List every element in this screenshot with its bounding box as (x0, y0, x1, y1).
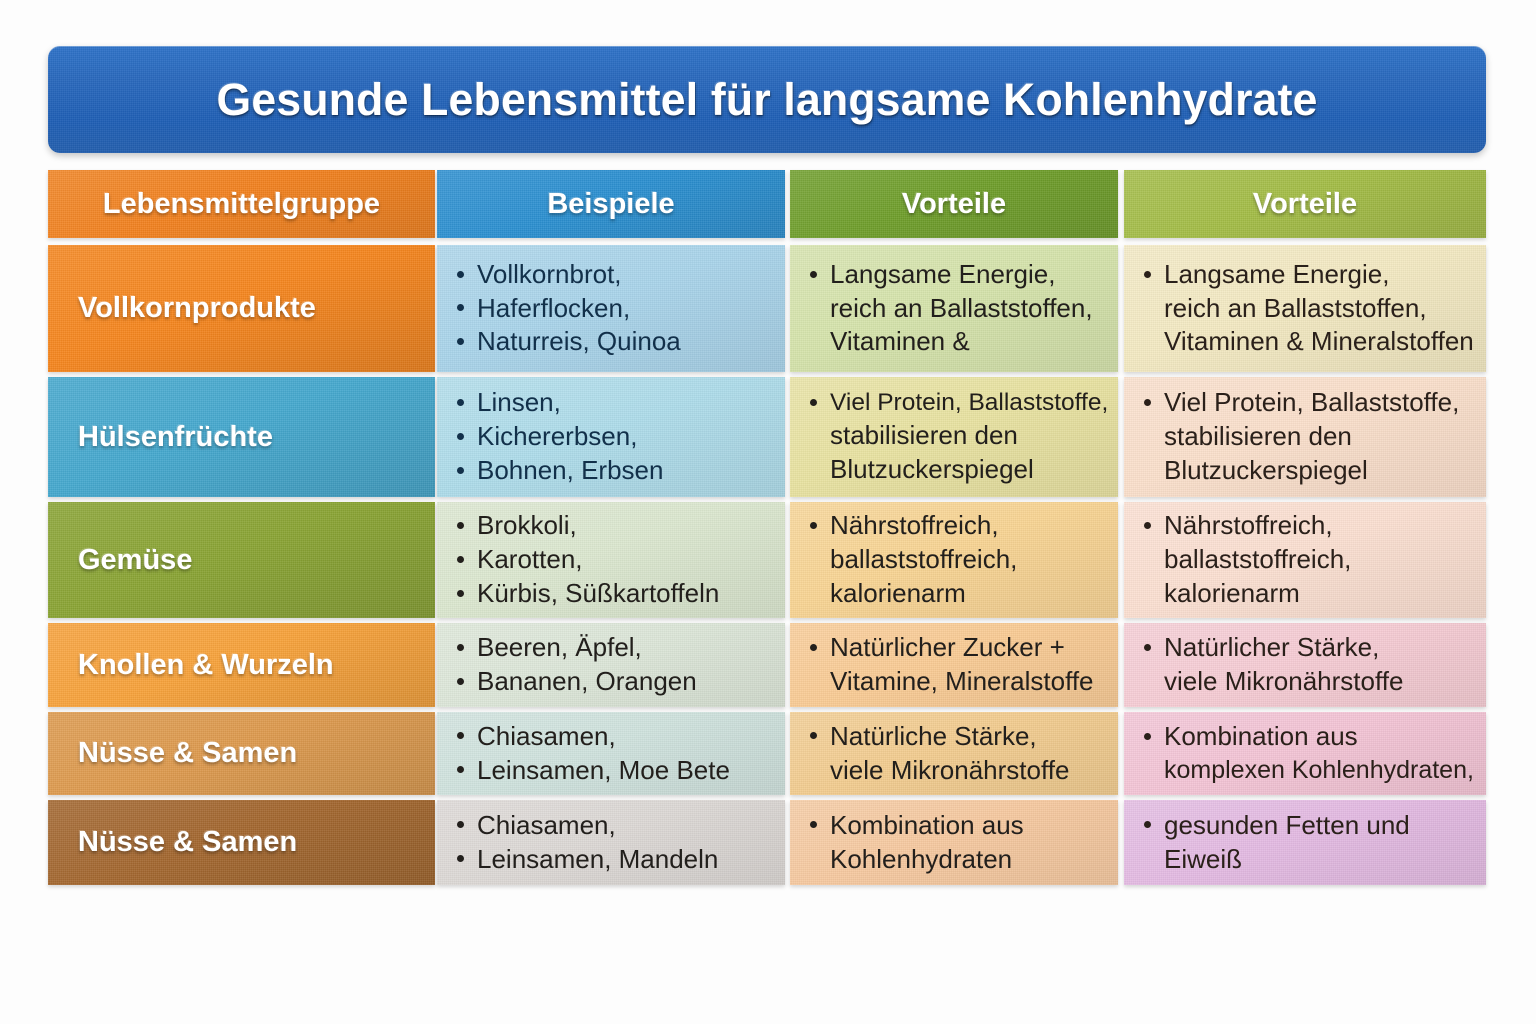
bullet-list: gesunden Fetten undEiweiß (1142, 809, 1476, 877)
list-item: komplexen Kohlenhydraten, (1142, 754, 1476, 787)
list-item: Chiasamen, (455, 720, 775, 754)
list-item: stabilisieren den (808, 419, 1108, 453)
bullet-point-icon (457, 338, 464, 345)
list-item: Vitamine, Mineralstoffe (808, 665, 1108, 699)
bullet-point-icon (457, 433, 464, 440)
list-item: Nährstoffreich, (1142, 509, 1476, 543)
list-item: Kombination aus (1142, 720, 1476, 754)
examples-cell: Chiasamen,Leinsamen, Mandeln (437, 800, 785, 885)
list-item: Kichererbsen, (455, 420, 775, 454)
bullet-point-icon (1144, 271, 1151, 278)
benefits-cell-b: Kombination auskomplexen Kohlenhydraten, (1124, 712, 1486, 795)
list-item-label: Natürliche Stärke, (830, 721, 1037, 751)
list-item: Viel Protein, Ballaststoffe, (808, 387, 1108, 419)
list-item: Chiasamen, (455, 809, 775, 843)
list-item-label: Blutzuckerspiegel (1164, 455, 1368, 485)
list-item: Blutzuckerspiegel (808, 453, 1108, 487)
table-row: Nüsse & Samen (48, 712, 435, 795)
list-item-label: Naturreis, Quinoa (477, 326, 681, 356)
food-group-label: Vollkornprodukte (78, 292, 316, 325)
bullet-point-icon (457, 271, 464, 278)
benefits-cell-b: gesunden Fetten undEiweiß (1124, 800, 1486, 885)
table-header-cell-1: Lebensmittelgruppe (48, 170, 435, 238)
list-item: reich an Ballaststoffen, (1142, 292, 1476, 326)
list-item-label: Kombination aus (1164, 721, 1358, 751)
list-item: Natürliche Stärke, (808, 720, 1108, 754)
examples-cell: Chiasamen,Leinsamen, Moe Bete (437, 712, 785, 795)
table-header-label: Lebensmittelgruppe (103, 188, 380, 221)
list-item-label: stabilisieren den (830, 420, 1018, 450)
list-item-label: gesunden Fetten und (1164, 810, 1410, 840)
bullet-point-icon (457, 590, 464, 597)
list-item: ballaststoffreich, (1142, 543, 1476, 577)
list-item-label: Viel Protein, Ballaststoffe, (830, 389, 1108, 416)
list-item-label: Langsame Energie, (830, 259, 1055, 289)
bullet-point-icon (457, 678, 464, 685)
list-item-label: Leinsamen, Mandeln (477, 844, 718, 874)
list-item-label: Vitamine, Mineralstoffe (830, 666, 1094, 696)
food-group-label: Knollen & Wurzeln (78, 649, 334, 682)
list-item-label: Linsen, (477, 387, 561, 417)
benefits-cell-b: Natürlicher Stärke,viele Mikronährstoffe (1124, 623, 1486, 707)
list-item: Beeren, Äpfel, (455, 631, 775, 665)
bullet-point-icon (810, 732, 817, 739)
bullet-list: Linsen,Kichererbsen,Bohnen, Erbsen (455, 386, 775, 487)
list-item: Kürbis, Süßkartoffeln (455, 577, 775, 611)
list-item-label: Kichererbsen, (477, 421, 637, 451)
bullet-list: Beeren, Äpfel,Bananen, Orangen (455, 631, 775, 699)
list-item: Haferflocken, (455, 292, 775, 326)
bullet-point-icon (1144, 821, 1151, 828)
list-item: Leinsamen, Mandeln (455, 843, 775, 877)
list-item-label: reich an Ballaststoffen, (1164, 293, 1427, 323)
food-group-label: Nüsse & Samen (78, 737, 297, 770)
list-item: Kombination aus (808, 809, 1108, 843)
list-item-label: Beeren, Äpfel, (477, 632, 642, 662)
benefits-cell-a: Nährstoffreich,ballaststoffreich,kalorie… (790, 502, 1118, 618)
list-item: Vitaminen & (808, 325, 1108, 359)
bullet-point-icon (810, 644, 817, 651)
benefits-cell-a: Kombination ausKohlenhydraten (790, 800, 1118, 885)
table-row: Knollen & Wurzeln (48, 623, 435, 707)
bullet-point-icon (810, 821, 817, 828)
list-item: Brokkoli, (455, 509, 775, 543)
list-item: Naturreis, Quinoa (455, 325, 775, 359)
bullet-list: Nährstoffreich,ballaststoffreich,kalorie… (1142, 509, 1476, 610)
list-item: Leinsamen, Moe Bete (455, 754, 775, 788)
list-item: Eiweiß (1142, 843, 1476, 877)
bullet-list: Nährstoffreich,ballaststoffreich,kalorie… (808, 509, 1108, 610)
bullet-point-icon (457, 766, 464, 773)
bullet-list: Natürliche Stärke,viele Mikronährstoffe (808, 720, 1108, 788)
list-item: Langsame Energie, (808, 258, 1108, 292)
list-item-label: Chiasamen, (477, 810, 616, 840)
examples-cell: Vollkornbrot,Haferflocken,Naturreis, Qui… (437, 245, 785, 372)
list-item-label: komplexen Kohlenhydraten, (1164, 756, 1474, 784)
list-item: Viel Protein, Ballaststoffe, (1142, 386, 1476, 420)
list-item: Blutzuckerspiegel (1142, 454, 1476, 488)
list-item: viele Mikronährstoffe (1142, 665, 1476, 699)
bullet-point-icon (1144, 399, 1151, 406)
list-item-label: Kohlenhydraten (830, 844, 1012, 874)
list-item: Vitaminen & Mineralstoffen (1142, 325, 1476, 359)
list-item-label: kalorienarm (1164, 578, 1300, 608)
list-item-label: Eiweiß (1164, 844, 1242, 874)
list-item-label: Viel Protein, Ballaststoffe, (1164, 387, 1459, 417)
list-item: stabilisieren den (1142, 420, 1476, 454)
bullet-point-icon (457, 399, 464, 406)
bullet-list: Natürlicher Stärke,viele Mikronährstoffe (1142, 631, 1476, 699)
bullet-list: Langsame Energie,reich an Ballaststoffen… (808, 258, 1108, 359)
list-item-label: ballaststoffreich, (830, 544, 1017, 574)
list-item-label: Blutzuckerspiegel (830, 454, 1034, 484)
examples-cell: Brokkoli,Karotten,Kürbis, Süßkartoffeln (437, 502, 785, 618)
bullet-list: Langsame Energie,reich an Ballaststoffen… (1142, 258, 1476, 359)
bullet-list: Kombination ausKohlenhydraten (808, 809, 1108, 877)
examples-cell: Linsen,Kichererbsen,Bohnen, Erbsen (437, 377, 785, 497)
bullet-list: Chiasamen,Leinsamen, Moe Bete (455, 720, 775, 788)
list-item-label: Nährstoffreich, (1164, 510, 1333, 540)
list-item-label: reich an Ballaststoffen, (830, 293, 1093, 323)
table-header-cell-3: Vorteile (790, 170, 1118, 238)
list-item-label: viele Mikronährstoffe (1164, 666, 1403, 696)
list-item: Bananen, Orangen (455, 665, 775, 699)
table-row: Nüsse & Samen (48, 800, 435, 885)
benefits-cell-a: Viel Protein, Ballaststoffe,stabilisiere… (790, 377, 1118, 497)
list-item-label: Bohnen, Erbsen (477, 455, 663, 485)
list-item-label: Nährstoffreich, (830, 510, 999, 540)
food-group-label: Gemüse (78, 544, 192, 577)
bullet-point-icon (810, 399, 817, 406)
bullet-point-icon (1144, 733, 1151, 740)
list-item-label: Kürbis, Süßkartoffeln (477, 578, 719, 608)
table-header-label: Vorteile (1253, 188, 1357, 221)
benefits-cell-a: Natürlicher Zucker +Vitamine, Mineralsto… (790, 623, 1118, 707)
page-title: Gesunde Lebensmittel für langsame Kohlen… (216, 74, 1317, 126)
list-item: Langsame Energie, (1142, 258, 1476, 292)
bullet-list: Viel Protein, Ballaststoffe,stabilisiere… (1142, 386, 1476, 487)
bullet-list: Viel Protein, Ballaststoffe,stabilisiere… (808, 387, 1108, 486)
food-table: LebensmittelgruppeBeispieleVorteileVorte… (0, 0, 1536, 1024)
table-row: Gemüse (48, 502, 435, 618)
list-item-label: Haferflocken, (477, 293, 630, 323)
list-item-label: Vollkornbrot, (477, 259, 622, 289)
list-item: viele Mikronährstoffe (808, 754, 1108, 788)
bullet-point-icon (1144, 644, 1151, 651)
list-item: kalorienarm (1142, 577, 1476, 611)
table-header-cell-4: Vorteile (1124, 170, 1486, 238)
list-item-label: Bananen, Orangen (477, 666, 697, 696)
food-group-label: Hülsenfrüchte (78, 421, 273, 454)
list-item: Bohnen, Erbsen (455, 454, 775, 488)
benefits-cell-a: Natürliche Stärke,viele Mikronährstoffe (790, 712, 1118, 795)
list-item: Nährstoffreich, (808, 509, 1108, 543)
benefits-cell-b: Viel Protein, Ballaststoffe,stabilisiere… (1124, 377, 1486, 497)
list-item: Kohlenhydraten (808, 843, 1108, 877)
bullet-point-icon (457, 821, 464, 828)
list-item: reich an Ballaststoffen, (808, 292, 1108, 326)
benefits-cell-b: Nährstoffreich,ballaststoffreich,kalorie… (1124, 502, 1486, 618)
list-item-label: Karotten, (477, 544, 583, 574)
table-header-cell-2: Beispiele (437, 170, 785, 238)
table-header-label: Beispiele (547, 188, 674, 221)
list-item-label: Brokkoli, (477, 510, 577, 540)
table-row: Hülsenfrüchte (48, 377, 435, 497)
list-item-label: Vitaminen & Mineralstoffen (1164, 326, 1474, 356)
list-item-label: Langsame Energie, (1164, 259, 1389, 289)
bullet-point-icon (810, 271, 817, 278)
list-item: Natürlicher Stärke, (1142, 631, 1476, 665)
bullet-point-icon (457, 467, 464, 474)
list-item-label: Leinsamen, Moe Bete (477, 755, 730, 785)
bullet-point-icon (457, 732, 464, 739)
list-item: kalorienarm (808, 577, 1108, 611)
list-item-label: Natürlicher Stärke, (1164, 632, 1379, 662)
bullet-list: Chiasamen,Leinsamen, Mandeln (455, 809, 775, 877)
list-item-label: Chiasamen, (477, 721, 616, 751)
list-item: gesunden Fetten und (1142, 809, 1476, 843)
bullet-list: Natürlicher Zucker +Vitamine, Mineralsto… (808, 631, 1108, 699)
table-row: Vollkornprodukte (48, 245, 435, 372)
list-item: ballaststoffreich, (808, 543, 1108, 577)
bullet-point-icon (810, 522, 817, 529)
bullet-point-icon (457, 556, 464, 563)
list-item-label: viele Mikronährstoffe (830, 755, 1069, 785)
examples-cell: Beeren, Äpfel,Bananen, Orangen (437, 623, 785, 707)
list-item-label: stabilisieren den (1164, 421, 1352, 451)
list-item-label: kalorienarm (830, 578, 966, 608)
list-item-label: Natürlicher Zucker + (830, 632, 1065, 662)
list-item: Vollkornbrot, (455, 258, 775, 292)
benefits-cell-a: Langsame Energie,reich an Ballaststoffen… (790, 245, 1118, 372)
bullet-point-icon (1144, 522, 1151, 529)
bullet-point-icon (457, 304, 464, 311)
table-header-label: Vorteile (902, 188, 1006, 221)
list-item-label: ballaststoffreich, (1164, 544, 1351, 574)
list-item-label: Vitaminen & (830, 326, 970, 356)
bullet-list: Kombination auskomplexen Kohlenhydraten, (1142, 720, 1476, 786)
infographic-poster: Gesunde Lebensmittel für langsame Kohlen… (0, 0, 1536, 1024)
bullet-point-icon (457, 522, 464, 529)
list-item: Karotten, (455, 543, 775, 577)
bullet-list: Vollkornbrot,Haferflocken,Naturreis, Qui… (455, 258, 775, 359)
bullet-point-icon (457, 644, 464, 651)
list-item-label: Kombination aus (830, 810, 1024, 840)
benefits-cell-b: Langsame Energie,reich an Ballaststoffen… (1124, 245, 1486, 372)
list-item: Linsen, (455, 386, 775, 420)
bullet-list: Brokkoli,Karotten,Kürbis, Süßkartoffeln (455, 509, 775, 610)
food-group-label: Nüsse & Samen (78, 826, 297, 859)
list-item: Natürlicher Zucker + (808, 631, 1108, 665)
bullet-point-icon (457, 855, 464, 862)
